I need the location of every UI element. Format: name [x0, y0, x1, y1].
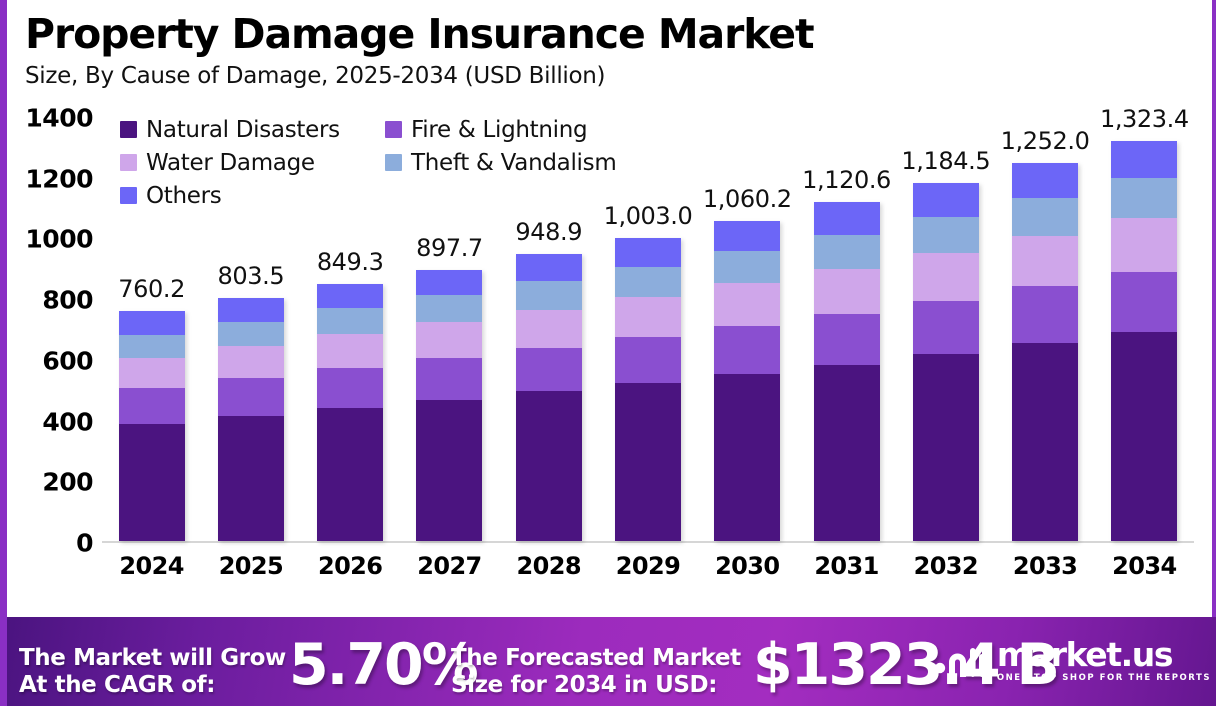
x-axis-tick-label: 2033 — [1013, 552, 1077, 580]
cagr-value: 5.70% — [289, 637, 477, 694]
bar-column[interactable]: 1,120.6 — [814, 202, 880, 541]
bar-column[interactable]: 1,003.0 — [615, 238, 681, 541]
bar-column[interactable]: 1,060.2 — [714, 221, 780, 541]
bar-stack — [714, 221, 780, 541]
bar-stack — [913, 183, 979, 541]
bar-segment-water-damage[interactable] — [119, 358, 185, 389]
bar-segment-water-damage[interactable] — [913, 253, 979, 301]
bar-column[interactable]: 948.9 — [516, 254, 582, 541]
bar-total-label: 1,323.4 — [1100, 105, 1189, 133]
header: Property Damage Insurance Market Size, B… — [7, 0, 1212, 90]
bar-segment-others[interactable] — [913, 183, 979, 217]
bar-segment-water-damage[interactable] — [814, 269, 880, 314]
bar-segment-fire-lightning[interactable] — [714, 326, 780, 374]
bar-segment-others[interactable] — [119, 311, 185, 334]
logo-text: market.us ONE STOP SHOP FOR THE REPORTS — [997, 638, 1211, 684]
bar-column[interactable]: 1,323.4 — [1111, 141, 1177, 541]
bar-segment-others[interactable] — [516, 254, 582, 281]
bar-segment-others[interactable] — [416, 270, 482, 295]
bar-segment-theft-vandalism[interactable] — [218, 322, 284, 346]
bar-segment-fire-lightning[interactable] — [317, 368, 383, 408]
bar-segment-natural-disasters[interactable] — [1012, 343, 1078, 541]
bar-segment-natural-disasters[interactable] — [615, 383, 681, 541]
bar-total-label: 1,184.5 — [901, 147, 990, 175]
bar-segment-fire-lightning[interactable] — [913, 301, 979, 355]
x-axis-tick-label: 2028 — [517, 552, 581, 580]
bar-segment-others[interactable] — [1012, 163, 1078, 198]
bar-segment-water-damage[interactable] — [218, 346, 284, 378]
bar-segment-natural-disasters[interactable] — [714, 374, 780, 541]
bar-total-label: 1,252.0 — [1001, 127, 1090, 155]
bar-segment-others[interactable] — [615, 238, 681, 267]
bar-segment-natural-disasters[interactable] — [416, 400, 482, 541]
bar-segment-natural-disasters[interactable] — [1111, 332, 1177, 541]
x-axis-tick-label: 2027 — [417, 552, 481, 580]
x-axis-tick-label: 2031 — [814, 552, 878, 580]
bar-segment-theft-vandalism[interactable] — [317, 308, 383, 334]
bar-stack — [814, 202, 880, 541]
bar-segment-fire-lightning[interactable] — [814, 314, 880, 365]
bar-stack — [416, 270, 482, 541]
bar-total-label: 849.3 — [317, 248, 384, 276]
axis-baseline — [102, 541, 1194, 543]
y-axis-tick-label: 400 — [7, 407, 93, 436]
bar-segment-theft-vandalism[interactable] — [913, 217, 979, 253]
bar-segment-theft-vandalism[interactable] — [1012, 198, 1078, 236]
x-axis-tick-label: 2032 — [914, 552, 978, 580]
bar-total-label: 760.2 — [118, 275, 185, 303]
bar-segment-theft-vandalism[interactable] — [814, 235, 880, 269]
bar-segment-theft-vandalism[interactable] — [714, 251, 780, 283]
bar-segment-water-damage[interactable] — [714, 283, 780, 326]
page-subtitle: Size, By Cause of Damage, 2025-2034 (USD… — [25, 62, 1212, 90]
cagr-label: The Market will Grow At the CAGR of: — [19, 645, 289, 699]
bar-column[interactable]: 1,184.5 — [913, 183, 979, 541]
bar-total-label: 897.7 — [416, 234, 483, 262]
bar-segment-fire-lightning[interactable] — [615, 337, 681, 383]
bar-total-label: 803.5 — [218, 262, 285, 290]
bar-stack — [317, 284, 383, 541]
page-title: Property Damage Insurance Market — [25, 12, 1212, 56]
x-axis-tick-label: 2025 — [219, 552, 283, 580]
bar-segment-theft-vandalism[interactable] — [1111, 178, 1177, 218]
x-axis-tick-label: 2026 — [318, 552, 382, 580]
infographic-page: Property Damage Insurance Market Size, B… — [0, 0, 1216, 706]
bar-segment-fire-lightning[interactable] — [1111, 272, 1177, 332]
logo-mark-icon — [933, 644, 989, 678]
bar-segment-water-damage[interactable] — [1111, 218, 1177, 271]
market-us-logo: market.us ONE STOP SHOP FOR THE REPORTS — [933, 638, 1211, 684]
forecast-label: The Forecasted Market Size for 2034 in U… — [451, 645, 751, 699]
y-axis-tick-label: 0 — [7, 529, 93, 558]
logo-tagline: ONE STOP SHOP FOR THE REPORTS — [997, 673, 1211, 684]
bar-stack — [516, 254, 582, 541]
bar-segment-water-damage[interactable] — [615, 297, 681, 337]
bars-area: 760.2803.5849.3897.7948.91,003.01,060.21… — [102, 118, 1194, 543]
bar-segment-fire-lightning[interactable] — [516, 348, 582, 392]
x-axis-tick-label: 2024 — [119, 552, 183, 580]
y-axis-tick-label: 1400 — [7, 104, 93, 133]
y-axis-tick-label: 600 — [7, 346, 93, 375]
bar-total-label: 1,003.0 — [604, 202, 693, 230]
y-axis-tick-label: 200 — [7, 468, 93, 497]
bar-column[interactable]: 803.5 — [218, 298, 284, 541]
bar-segment-others[interactable] — [317, 284, 383, 308]
bar-column[interactable]: 760.2 — [119, 311, 185, 541]
chart-plot-area: 0200400600800100012001400 760.2803.5849.… — [7, 118, 1212, 558]
bar-segment-natural-disasters[interactable] — [218, 416, 284, 541]
bar-total-label: 1,120.6 — [802, 166, 891, 194]
y-axis: 0200400600800100012001400 — [7, 118, 93, 543]
logo-name: market.us — [997, 638, 1211, 671]
bar-segment-water-damage[interactable] — [516, 310, 582, 348]
x-axis-tick-label: 2029 — [616, 552, 680, 580]
x-axis-tick-label: 2034 — [1112, 552, 1176, 580]
footer-banner: The Market will Grow At the CAGR of: 5.7… — [7, 617, 1216, 706]
bar-segment-others[interactable] — [218, 298, 284, 322]
bar-segment-theft-vandalism[interactable] — [516, 281, 582, 310]
bar-segment-fire-lightning[interactable] — [416, 358, 482, 400]
bar-segment-natural-disasters[interactable] — [119, 424, 185, 541]
bar-column[interactable]: 897.7 — [416, 270, 482, 541]
bar-segment-water-damage[interactable] — [1012, 236, 1078, 286]
bar-segment-theft-vandalism[interactable] — [416, 295, 482, 322]
bar-segment-natural-disasters[interactable] — [913, 354, 979, 541]
bar-segment-water-damage[interactable] — [317, 334, 383, 368]
bar-segment-others[interactable] — [1111, 141, 1177, 177]
bar-segment-water-damage[interactable] — [416, 322, 482, 358]
bar-stack — [1012, 163, 1078, 541]
bar-column[interactable]: 849.3 — [317, 284, 383, 541]
bar-segment-fire-lightning[interactable] — [218, 378, 284, 415]
y-axis-tick-label: 1200 — [7, 164, 93, 193]
bar-stack — [1111, 141, 1177, 541]
bar-segment-natural-disasters[interactable] — [814, 365, 880, 541]
x-axis: 2024202520262027202820292030203120322033… — [102, 548, 1194, 588]
bar-stack — [119, 311, 185, 541]
bar-segment-fire-lightning[interactable] — [1012, 286, 1078, 343]
bar-total-label: 948.9 — [515, 218, 582, 246]
y-axis-tick-label: 1000 — [7, 225, 93, 254]
bar-segment-others[interactable] — [814, 202, 880, 235]
bar-total-label: 1,060.2 — [703, 185, 792, 213]
bar-stack — [218, 298, 284, 541]
bar-stack — [615, 238, 681, 541]
x-axis-tick-label: 2030 — [715, 552, 779, 580]
bar-segment-natural-disasters[interactable] — [317, 408, 383, 541]
bar-segment-theft-vandalism[interactable] — [119, 335, 185, 358]
y-axis-tick-label: 800 — [7, 286, 93, 315]
bar-segment-theft-vandalism[interactable] — [615, 267, 681, 297]
bar-segment-natural-disasters[interactable] — [516, 391, 582, 541]
bar-segment-others[interactable] — [714, 221, 780, 252]
bar-column[interactable]: 1,252.0 — [1012, 163, 1078, 541]
bar-segment-fire-lightning[interactable] — [119, 388, 185, 424]
